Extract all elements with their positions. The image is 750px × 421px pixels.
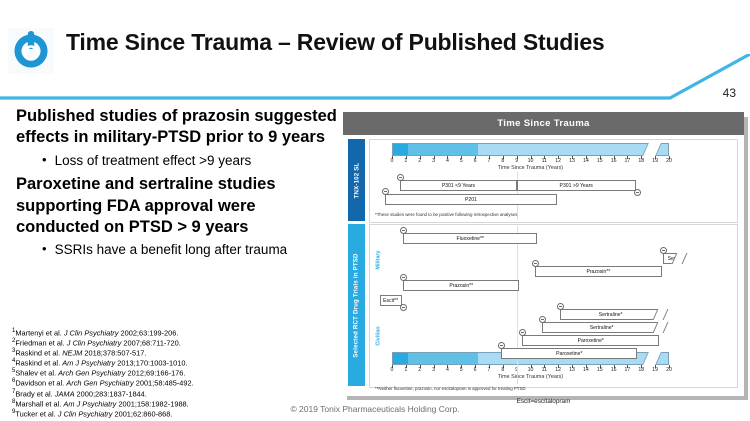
p301-segment-divider <box>517 180 518 191</box>
study-bar: Prazosin** <box>403 280 519 291</box>
study-marker-icon <box>382 188 389 195</box>
paragraph-prazosin: Published studies of prazosin suggested … <box>16 106 341 149</box>
axis-tick-label: 12 <box>555 158 561 164</box>
study-bar: Escit** <box>380 295 402 306</box>
paragraph-ssri: Paroxetine and sertraline studies suppor… <box>16 174 341 238</box>
study-bar: P201 <box>385 194 557 205</box>
content-column: Published studies of prazosin suggested … <box>16 106 341 264</box>
subrail-civilian-label: Civilian <box>376 326 382 345</box>
axis-tick-label: 3 <box>432 158 435 164</box>
axis-tick-label: 16 <box>611 158 617 164</box>
axis-tick-label: 11 <box>542 367 547 373</box>
subrail-military-label: Military <box>376 251 382 270</box>
axis-tick-label: 13 <box>569 158 575 164</box>
study-bar: P301 <9 Years <box>400 180 516 191</box>
axis-caption: Time Since Trauma (Years) <box>392 165 669 171</box>
axis-top: 01234567891011121314151617181920Time Sin… <box>392 143 669 173</box>
axis-tick-label: 18 <box>638 367 644 373</box>
bullet-loss-of-effect: Loss of treatment effect >9 years <box>55 152 252 169</box>
axis-tick-label: 8 <box>501 367 504 373</box>
axis-tick-label: 14 <box>583 367 589 373</box>
axis-tick-label: 16 <box>611 367 617 373</box>
axis-tick-label: 0 <box>391 158 394 164</box>
reference-item: 6Davidson et al. Arch Gen Psychiatry 200… <box>12 378 272 388</box>
header-accent-swoosh <box>0 54 750 102</box>
rail-tnx-label: TNX-102 SL <box>353 162 360 198</box>
axis-tick-label: 15 <box>597 367 603 373</box>
page-title: Time Since Trauma – Review of Published … <box>66 30 706 55</box>
reference-item: 1Martenyi et al. J Clin Psychiatry 2002;… <box>12 328 272 338</box>
axis-tick-label: 19 <box>652 367 658 373</box>
study-marker-icon <box>634 189 641 196</box>
rail-tnx-102-sl: TNX-102 SL <box>348 139 365 221</box>
axis-tick-label: 7 <box>487 367 490 373</box>
axis-tick-label: 20 <box>666 367 672 373</box>
study-bar: Sertraline* <box>542 322 661 333</box>
reference-item: 3Raskind et al. NEJM 2018;378:507-517. <box>12 348 272 358</box>
axis-tick-label: 20 <box>666 158 672 164</box>
slide-header: Time Since Trauma – Review of Published … <box>0 0 750 96</box>
axis-tick-label: 7 <box>487 158 490 164</box>
study-marker-icon <box>400 304 407 311</box>
page-number: 43 <box>723 86 736 100</box>
rail-selected-rct-trials: Selected RCT Drug Trials in PTSD <box>348 224 365 386</box>
axis-tick-label: 6 <box>474 158 477 164</box>
axis-tick-label: 6 <box>474 367 477 373</box>
study-marker-icon <box>532 260 539 267</box>
list-item: • Loss of treatment effect >9 years <box>42 152 341 169</box>
study-marker-icon <box>557 303 564 310</box>
study-marker-icon <box>539 316 546 323</box>
list-item: • SSRIs have a benefit long after trauma <box>42 241 341 258</box>
study-bar: Fluoxetine** <box>403 233 537 244</box>
axis-tick-label: 5 <box>460 367 463 373</box>
axis-tick-label: 10 <box>528 158 534 164</box>
axis-tick-label: 2 <box>418 158 421 164</box>
axis-tick-label: 13 <box>569 367 575 373</box>
axis-tick-label: 2 <box>418 367 421 373</box>
reference-item: 7Brady et al. JAMA 2000;283:1837-1844. <box>12 389 272 399</box>
axis-tick-label: 14 <box>583 158 589 164</box>
axis-tick-label: 3 <box>432 367 435 373</box>
rail-rct-label: Selected RCT Drug Trials in PTSD <box>353 253 360 357</box>
bullet-glyph-icon: • <box>42 241 47 258</box>
figure-note-top: *These studies were found to be positive… <box>375 212 517 217</box>
figure-title: Time Since Trauma <box>343 112 744 135</box>
axis-tick-label: 17 <box>625 367 631 373</box>
axis-tick-label: 11 <box>542 158 547 164</box>
axis-tick-label: 18 <box>638 158 644 164</box>
reference-item: 4Raskind et al. Am J Psychiatry 2013;170… <box>12 358 272 368</box>
axis-tick-label: 17 <box>625 158 631 164</box>
axis-tick-label: 12 <box>555 367 561 373</box>
axis-tick-label: 4 <box>446 158 449 164</box>
axis-tick-label: 9 <box>515 158 518 164</box>
axis-tick-label: 19 <box>652 158 658 164</box>
axis-tick-label: 4 <box>446 367 449 373</box>
subrail-military: Military <box>373 229 384 291</box>
study-bar: P301 >9 Years <box>517 180 636 191</box>
axis-tick-label: 1 <box>404 158 407 164</box>
reference-item: 2Friedman et al. J Clin Psychiatry 2007;… <box>12 338 272 348</box>
axis-tick-label: 0 <box>391 367 394 373</box>
reference-item: 5Shalev et al. Arch Gen Psychiatry 2012;… <box>12 368 272 378</box>
axis-tick-label: 10 <box>528 367 534 373</box>
axis-tick-label: 8 <box>501 158 504 164</box>
axis-tick-label: 1 <box>404 367 407 373</box>
study-bar: Paroxetine* <box>501 348 637 359</box>
study-bar: Sertraline* <box>560 309 661 320</box>
axis-tick-label: 15 <box>597 158 603 164</box>
axis-caption: Time Since Trauma (Years) <box>392 374 669 380</box>
copyright-text: © 2019 Tonix Pharmaceuticals Holding Cor… <box>0 404 750 414</box>
study-bar: Prazosin** <box>535 266 662 277</box>
gridline-9-years <box>517 226 518 384</box>
study-bar: Paroxetine* <box>522 335 659 346</box>
bullet-glyph-icon: • <box>42 152 47 169</box>
figure-time-since-trauma: Time Since Trauma TNX-102 SL Selected RC… <box>343 112 744 396</box>
axis-gradient-bar <box>392 143 669 156</box>
bullet-ssri-benefit: SSRIs have a benefit long after trauma <box>55 241 288 258</box>
axis-tick-label: 5 <box>460 158 463 164</box>
subrail-civilian: Civilian <box>373 295 384 377</box>
figure-note-bottom: **Neither fluoxetine, prazosin, nor esci… <box>375 386 526 391</box>
